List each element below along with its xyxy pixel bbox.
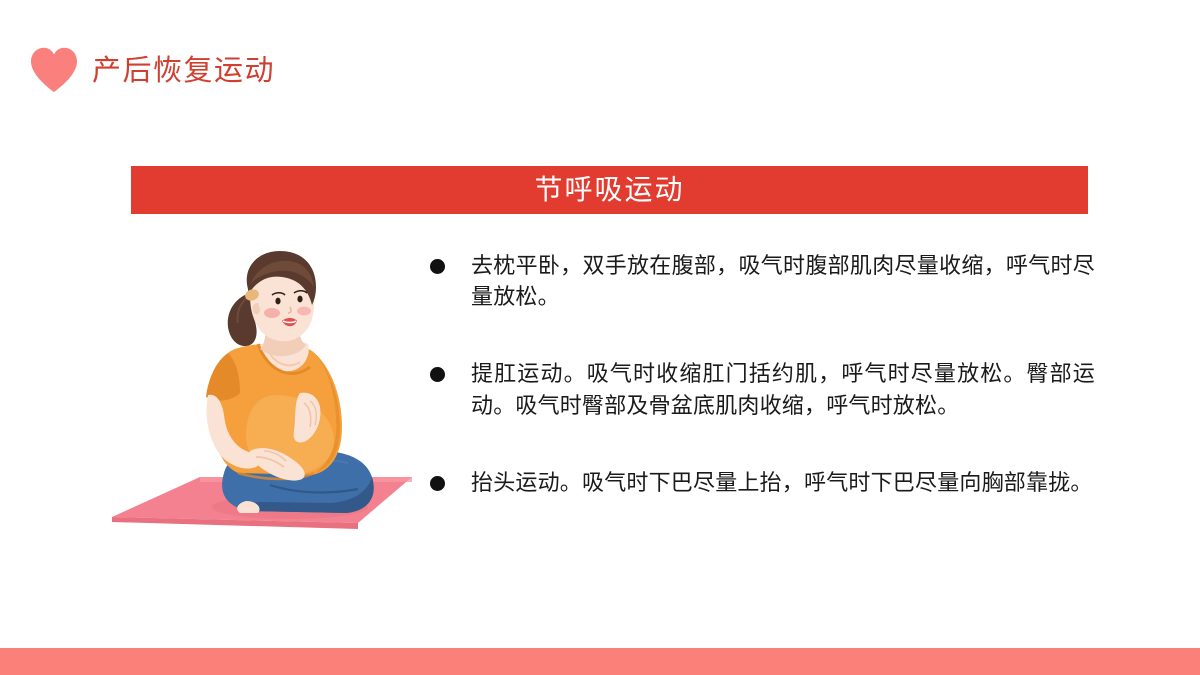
brand-header: 产后恢复运动	[30, 44, 275, 96]
head-shape	[228, 251, 316, 346]
section-banner: 节呼吸运动	[131, 166, 1088, 214]
content-area: 去枕平卧，双手放在腹部，吸气时腹部肌肉尽量收缩，呼气时尽量放松。 提肛运动。吸气…	[0, 240, 1200, 570]
list-item: 提肛运动。吸气时收缩肛门括约肌，呼气时尽量放松。臀部运动。吸气时臀部及骨盆底肌肉…	[430, 358, 1095, 420]
bullet-dot-icon	[430, 476, 445, 491]
pregnant-woman-illustration	[100, 245, 420, 545]
list-item-text: 提肛运动。吸气时收缩肛门括约肌，呼气时尽量放松。臀部运动。吸气时臀部及骨盆底肌肉…	[471, 358, 1095, 420]
page-title: 产后恢复运动	[92, 54, 275, 86]
list-item-text: 抬头运动。吸气时下巴尽量上抬，呼气时下巴尽量向胸部靠拢。	[471, 467, 1095, 498]
section-banner-title: 节呼吸运动	[534, 176, 684, 204]
bullet-dot-icon	[430, 259, 445, 274]
list-item: 去枕平卧，双手放在腹部，吸气时腹部肌肉尽量收缩，呼气时尽量放松。	[430, 250, 1095, 312]
list-item-text: 去枕平卧，双手放在腹部，吸气时腹部肌肉尽量收缩，呼气时尽量放松。	[471, 250, 1095, 312]
bottom-accent-bar	[0, 648, 1200, 675]
bullet-dot-icon	[430, 367, 445, 382]
bullet-list: 去枕平卧，双手放在腹部，吸气时腹部肌肉尽量收缩，呼气时尽量放松。 提肛运动。吸气…	[430, 250, 1095, 498]
slide-root: 产后恢复运动 节呼吸运动	[0, 0, 1200, 675]
list-item: 抬头运动。吸气时下巴尽量上抬，呼气时下巴尽量向胸部靠拢。	[430, 467, 1095, 498]
heart-icon	[30, 47, 78, 93]
illustration-container	[100, 245, 420, 545]
